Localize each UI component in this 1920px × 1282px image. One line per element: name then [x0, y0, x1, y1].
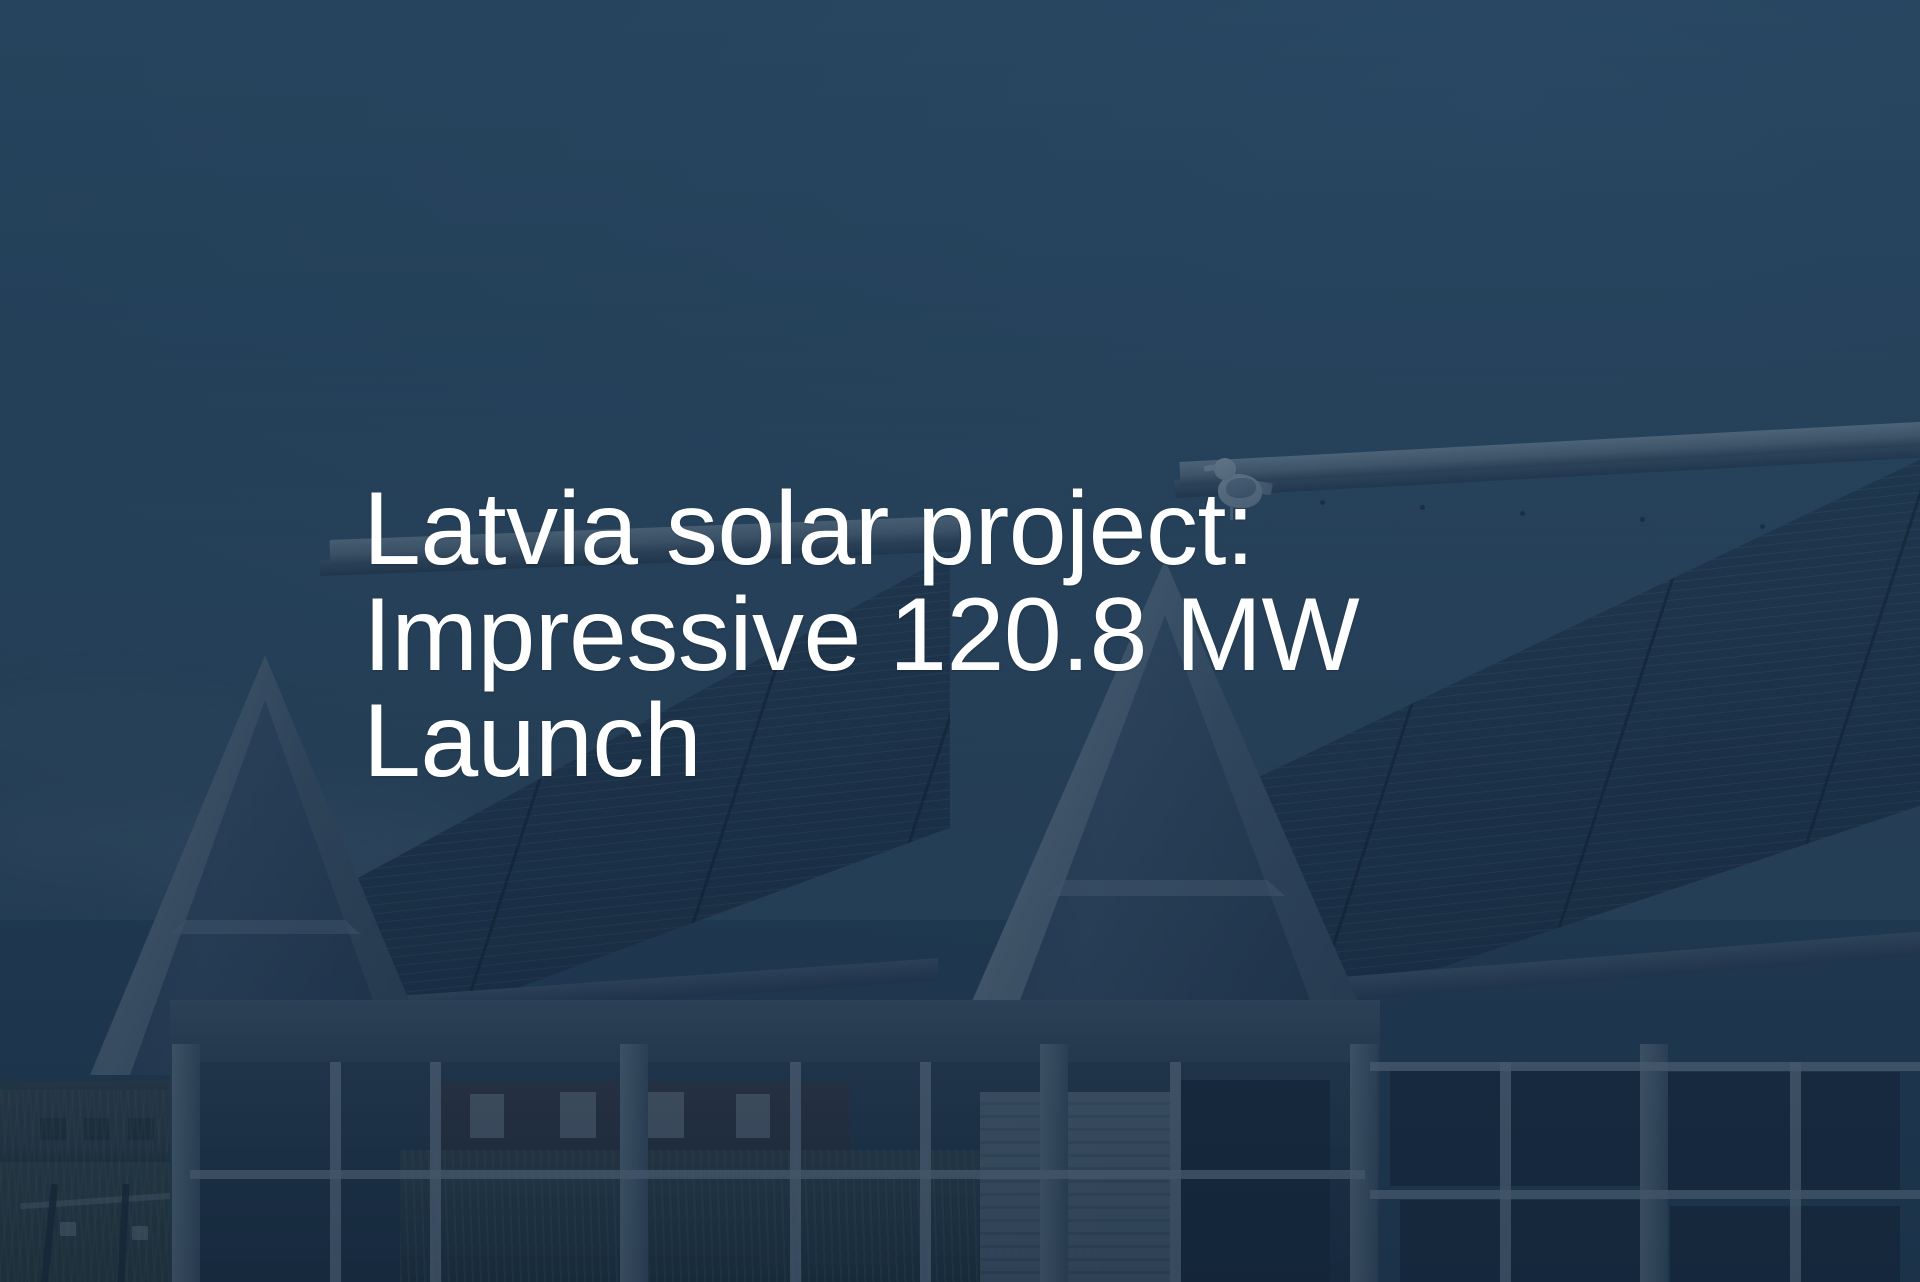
hero-banner: Latvia solar project: Impressive 120.8 M… [0, 0, 1920, 1282]
page-title: Latvia solar project: Impressive 120.8 M… [363, 476, 1383, 794]
